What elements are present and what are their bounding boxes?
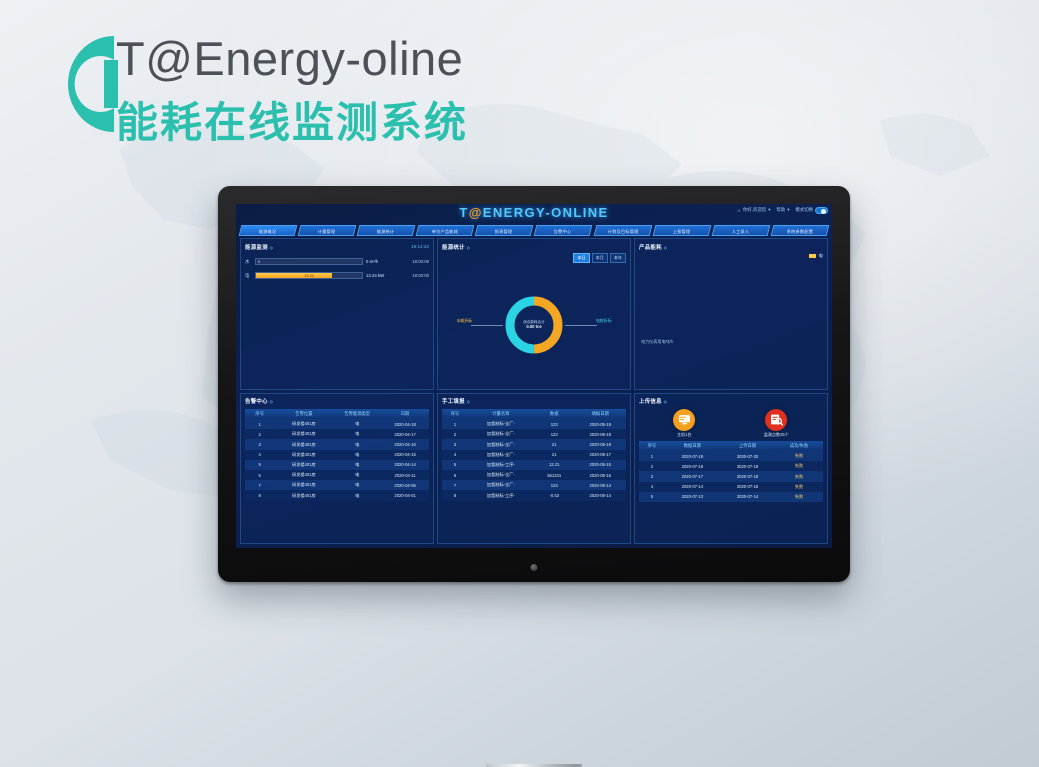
energy-bar-track: 0 bbox=[255, 258, 363, 265]
panel-title: 能源统计◇ bbox=[442, 243, 470, 251]
table-cell: 研发楼401房 bbox=[274, 419, 333, 429]
table-cell: 研发楼401房 bbox=[274, 450, 333, 460]
panel-title: 告警中心◇ bbox=[245, 397, 273, 405]
upload-stat-label: 主机1台 bbox=[673, 432, 695, 438]
app-title-suffix: ENERGY-ONLINE bbox=[483, 205, 609, 220]
app-title-prefix: T bbox=[459, 205, 468, 220]
table-cell: 7 bbox=[442, 480, 468, 490]
table-cell: 电 bbox=[333, 419, 381, 429]
clock-label: 18:14:23 bbox=[411, 244, 429, 249]
table-cell: 561241 bbox=[534, 470, 574, 480]
upload-table: 序号数据日期上传日期成功/失败 12020-07-192020-07-20失败2… bbox=[639, 441, 823, 503]
monitor-bezel: T@ENERGY-ONLINE ☺ 你好,欢迎您 ▾ 帮助 ▾ 模式切换 bbox=[218, 186, 850, 582]
table-cell: 加氢制标-全厂- bbox=[468, 419, 534, 429]
panel-energy-stats: 能源统计◇ 本日本月本年 水耗折标 电耗折标 综合能耗合计 0.00 tce bbox=[437, 238, 631, 390]
donut-center-label: 综合能耗合计 0.00 tce bbox=[503, 294, 565, 356]
table-body: 1研发楼401房电2020-04-182研发楼401房电2020-04-173研… bbox=[245, 419, 429, 501]
table-cell: 电 bbox=[333, 490, 381, 500]
table-cell: 2020-04-05 bbox=[381, 480, 429, 490]
column-header: 告警能源类型 bbox=[333, 409, 381, 420]
brand-lockup: T@Energy-oline 能耗在线监测系统 bbox=[52, 22, 612, 162]
table-row[interactable]: 2加氢制标-全厂-1232020-08-18 bbox=[442, 429, 626, 439]
table-row[interactable]: 7研发楼401房电2020-04-05 bbox=[245, 480, 429, 490]
table-cell: 4 bbox=[442, 450, 468, 460]
panel-title-text: 产品能耗 bbox=[639, 245, 662, 251]
nav-item-label: 能源统计 bbox=[377, 226, 395, 236]
table-cell: 2020-08-17 bbox=[574, 450, 626, 460]
table-cell: 加氢制标-工序- bbox=[468, 490, 534, 500]
table-row[interactable]: 12020-07-192020-07-20失败 bbox=[639, 451, 823, 461]
panel-title: 产品能耗◇ bbox=[639, 243, 667, 251]
table-cell: 21 bbox=[534, 439, 574, 449]
table-cell: 2020-07-20 bbox=[720, 451, 775, 461]
table-cell: 2020-07-19 bbox=[665, 451, 720, 461]
upload-stat-label: 监测点数25个 bbox=[764, 432, 789, 438]
mode-switch-label: 模式切换 bbox=[795, 207, 813, 213]
at-icon: @ bbox=[469, 205, 483, 220]
help-menu[interactable]: 帮助 ▾ bbox=[776, 207, 789, 213]
column-header: 上传日期 bbox=[720, 441, 775, 452]
table-cell: 2020-08-15 bbox=[574, 460, 626, 470]
table-cell: 1 bbox=[442, 419, 468, 429]
chevron-down-icon: ▾ bbox=[787, 207, 789, 213]
column-header: 成功/失败 bbox=[775, 441, 823, 452]
table-cell: 2020-07-15 bbox=[720, 482, 775, 492]
energy-row-time: 18:00:00 bbox=[403, 259, 429, 264]
column-header: 计量名称 bbox=[468, 409, 534, 420]
report-search-icon[interactable] bbox=[765, 409, 787, 431]
table-row[interactable]: 3研发楼401房电2020-04-16 bbox=[245, 439, 429, 449]
toggle-icon[interactable] bbox=[815, 207, 828, 214]
table-cell: 加氢制标-全厂- bbox=[468, 480, 534, 490]
table-row[interactable]: 32020-07-172020-07-18失败 bbox=[639, 471, 823, 481]
brand-title-en: T@Energy-oline bbox=[116, 22, 468, 96]
period-btn[interactable]: 本日 bbox=[573, 253, 589, 263]
expand-icon[interactable]: ◇ bbox=[270, 245, 273, 250]
period-toggle-group: 本日本月本年 bbox=[442, 253, 626, 263]
table-cell: 4 bbox=[245, 450, 274, 460]
table-cell: 2020-04-14 bbox=[381, 460, 429, 470]
legend-swatch-icon bbox=[809, 254, 816, 258]
panel-header: 产品能耗◇ bbox=[639, 242, 823, 251]
donut-center-value: 0.00 tce bbox=[526, 324, 541, 329]
energy-row-label: 电 bbox=[245, 273, 252, 279]
energy-bar-track: 13.24 bbox=[255, 272, 363, 279]
table-cell: 失败 bbox=[775, 492, 823, 502]
topbar-right: ☺ 你好,欢迎您 ▾ 帮助 ▾ 模式切换 bbox=[737, 207, 828, 214]
panel-upload-info: 上传信息◇ 主机1台监测点数25个 序号数据日期上传日期成功/失败 12020-… bbox=[634, 393, 828, 545]
table-row[interactable]: 5研发楼401房电2020-04-14 bbox=[245, 460, 429, 470]
table-cell: 5 bbox=[245, 460, 274, 470]
table-row[interactable]: 5加氢制标-工序-12.212020-08-15 bbox=[442, 460, 626, 470]
table-row[interactable]: 4研发楼401房电2020-04-15 bbox=[245, 450, 429, 460]
table-cell: 123 bbox=[534, 429, 574, 439]
user-icon: ☺ bbox=[737, 208, 741, 213]
nav-item-4[interactable]: 报表管理 bbox=[475, 225, 534, 236]
table-cell: 加氢制标-全厂- bbox=[468, 429, 534, 439]
panel-header: 手工填报◇ bbox=[442, 397, 626, 406]
table-row[interactable]: 7加氢制标-全厂-1232020-08-14 bbox=[442, 480, 626, 490]
nav-item-label: 计划及目标管理 bbox=[607, 226, 638, 236]
table-cell: 研发楼401房 bbox=[274, 490, 333, 500]
chevron-down-icon: ▾ bbox=[768, 207, 770, 213]
monitor: T@ENERGY-ONLINE ☺ 你好,欢迎您 ▾ 帮助 ▾ 模式切换 bbox=[218, 186, 850, 582]
expand-icon[interactable]: ◇ bbox=[664, 399, 667, 404]
table-cell: 研发楼401房 bbox=[274, 470, 333, 480]
nav-item-1[interactable]: 计量管理 bbox=[298, 225, 357, 236]
table-row[interactable]: 42020-07-142020-07-15失败 bbox=[639, 482, 823, 492]
panel-header: 能源统计◇ bbox=[442, 242, 626, 251]
column-header: 序号 bbox=[245, 409, 274, 420]
table-cell: 2 bbox=[639, 461, 665, 471]
upload-stat: 监测点数25个 bbox=[764, 409, 789, 438]
table-cell: 加氢制标-全厂- bbox=[468, 439, 534, 449]
nav-item-3[interactable]: 单位产品能耗 bbox=[416, 225, 475, 236]
panel-header: 告警中心◇ bbox=[245, 397, 429, 406]
panel-energy-monitor: 能源监测◇ 18:14:23 水00 m³/h18:00:00电13.2413.… bbox=[240, 238, 434, 390]
table-cell: 2020-07-14 bbox=[720, 492, 775, 502]
table-cell: 1 bbox=[245, 419, 274, 429]
expand-icon[interactable]: ◇ bbox=[270, 399, 273, 404]
table-cell: 加氢制标-工序- bbox=[468, 460, 534, 470]
table-cell: 2 bbox=[442, 429, 468, 439]
column-header: 序号 bbox=[442, 409, 468, 420]
table-cell: 2020-08-18 bbox=[574, 439, 626, 449]
energy-bar-value: 13.24 bbox=[256, 273, 362, 278]
table-row[interactable]: 8加氢制标-工序--0.532020-08-14 bbox=[442, 490, 626, 500]
panel-manual-entry: 手工填报◇ 序号计量名称数据填报日期 1加氢制标-全厂-1232020-08-1… bbox=[437, 393, 631, 545]
table-cell: 4 bbox=[639, 482, 665, 492]
nav-item-9[interactable]: 系统参数配置 bbox=[770, 225, 829, 236]
nav-item-label: 单位产品能耗 bbox=[432, 226, 458, 236]
table-cell: 2020-08-14 bbox=[574, 490, 626, 500]
table-cell: 2020-07-13 bbox=[665, 492, 720, 502]
table-cell: 3 bbox=[639, 471, 665, 481]
panel-title: 手工填报◇ bbox=[442, 397, 470, 405]
user-menu[interactable]: ☺ 你好,欢迎您 ▾ bbox=[737, 207, 771, 213]
energy-row: 电13.2413.24 kW18:00:00 bbox=[245, 272, 429, 279]
table-cell: 6 bbox=[245, 470, 274, 480]
table-cell: 电 bbox=[333, 429, 381, 439]
column-header: 数据 bbox=[534, 409, 574, 420]
expand-icon[interactable]: ◇ bbox=[664, 245, 667, 250]
nav-item-8[interactable]: 人工录入 bbox=[711, 225, 770, 236]
table-cell: 2020-07-19 bbox=[720, 461, 775, 471]
nav-item-label: 人工录入 bbox=[732, 226, 750, 236]
table-cell: 123 bbox=[534, 419, 574, 429]
energy-row: 水00 m³/h18:00:00 bbox=[245, 258, 429, 265]
table-header-row: 序号数据日期上传日期成功/失败 bbox=[639, 441, 823, 452]
dashboard-screen: T@ENERGY-ONLINE ☺ 你好,欢迎您 ▾ 帮助 ▾ 模式切换 bbox=[236, 204, 832, 548]
c-logo-icon bbox=[52, 30, 124, 138]
table-cell: 电 bbox=[333, 460, 381, 470]
nav-item-label: 能源概况 bbox=[259, 226, 277, 236]
table-cell: 2020-04-01 bbox=[381, 490, 429, 500]
panel-title: 能源监测◇ bbox=[245, 243, 273, 251]
table-cell: 研发楼401房 bbox=[274, 460, 333, 470]
panel-product-energy: 产品能耗◇ 电 电力仪表用电吨/h bbox=[634, 238, 828, 390]
energy-row-list: 水00 m³/h18:00:00电13.2413.24 kW18:00:00 bbox=[245, 258, 429, 279]
table-header-row: 序号告警位置告警能源类型日期 bbox=[245, 409, 429, 420]
table-body: 1加氢制标-全厂-1232020-08-192加氢制标-全厂-1232020-0… bbox=[442, 419, 626, 501]
slice-label-left: 水耗折标 bbox=[456, 318, 472, 324]
upload-stat: 主机1台 bbox=[673, 409, 695, 438]
expand-icon[interactable]: ◇ bbox=[467, 245, 470, 250]
nav-item-label: 系统参数配置 bbox=[786, 226, 812, 236]
app-title: T@ENERGY-ONLINE bbox=[459, 205, 608, 220]
panel-title: 上传信息◇ bbox=[639, 397, 667, 405]
panel-title-text: 手工填报 bbox=[442, 399, 465, 405]
legend-label: 电 bbox=[819, 253, 823, 259]
mode-switch[interactable]: 模式切换 bbox=[795, 207, 828, 214]
table-cell: 21 bbox=[534, 450, 574, 460]
panel-title-text: 上传信息 bbox=[639, 399, 662, 405]
table-cell: 2020-08-19 bbox=[574, 419, 626, 429]
slice-label-right: 电耗折标 bbox=[596, 318, 612, 324]
table-row[interactable]: 6研发楼401房电2020-04-11 bbox=[245, 470, 429, 480]
table-cell: 2020-04-18 bbox=[381, 419, 429, 429]
nav-item-label: 上报管理 bbox=[673, 226, 691, 236]
column-header: 序号 bbox=[639, 441, 665, 452]
table-cell: 电 bbox=[333, 450, 381, 460]
table-row[interactable]: 2研发楼401房电2020-04-17 bbox=[245, 429, 429, 439]
energy-row-label: 水 bbox=[245, 259, 252, 265]
table-cell: 电 bbox=[333, 439, 381, 449]
table-row[interactable]: 22020-07-182020-07-19失败 bbox=[639, 461, 823, 471]
table-cell: 6 bbox=[442, 470, 468, 480]
panel-header: 上传信息◇ bbox=[639, 397, 823, 406]
donut-chart: 综合能耗合计 0.00 tce bbox=[503, 294, 565, 356]
table-row[interactable]: 4加氢制标-全厂-212020-08-17 bbox=[442, 450, 626, 460]
chart-legend: 电 bbox=[639, 253, 823, 259]
table-cell: 失败 bbox=[775, 451, 823, 461]
help-label: 帮助 bbox=[776, 207, 785, 213]
column-header: 日期 bbox=[381, 409, 429, 420]
table-cell: 2020-07-18 bbox=[665, 461, 720, 471]
table-cell: 2020-08-15 bbox=[574, 470, 626, 480]
upload-stat-list: 主机1台监测点数25个 bbox=[639, 409, 823, 438]
table-cell: 5 bbox=[442, 460, 468, 470]
period-btn[interactable]: 本年 bbox=[610, 253, 626, 263]
table-row[interactable]: 52020-07-132020-07-14失败 bbox=[639, 492, 823, 502]
table-cell: 2020-08-18 bbox=[574, 429, 626, 439]
nav-item-7[interactable]: 上报管理 bbox=[652, 225, 711, 236]
panel-grid: 能源监测◇ 18:14:23 水00 m³/h18:00:00电13.2413.… bbox=[236, 238, 832, 548]
table-cell: 加氢制标-全厂- bbox=[468, 450, 534, 460]
nav-item-0[interactable]: 能源概况 bbox=[239, 225, 298, 236]
table-cell: 3 bbox=[245, 439, 274, 449]
table-cell: 12.21 bbox=[534, 460, 574, 470]
nav-item-6[interactable]: 计划及目标管理 bbox=[593, 225, 652, 236]
table-cell: 123 bbox=[534, 480, 574, 490]
table-cell: 研发楼401房 bbox=[274, 429, 333, 439]
panel-header: 能源监测◇ 18:14:23 bbox=[245, 242, 429, 251]
table-cell: 2020-07-17 bbox=[665, 471, 720, 481]
table-cell: 2 bbox=[245, 429, 274, 439]
table-cell: 2020-07-14 bbox=[665, 482, 720, 492]
table-cell: 2020-07-18 bbox=[720, 471, 775, 481]
server-icon[interactable] bbox=[673, 409, 695, 431]
table-cell: 2020-04-17 bbox=[381, 429, 429, 439]
table-cell: 失败 bbox=[775, 461, 823, 471]
table-row[interactable]: 8研发楼401房电2020-04-01 bbox=[245, 490, 429, 500]
nav-item-label: 报表管理 bbox=[495, 226, 513, 236]
nav-item-2[interactable]: 能源统计 bbox=[357, 225, 416, 236]
screen-topbar: T@ENERGY-ONLINE ☺ 你好,欢迎您 ▾ 帮助 ▾ 模式切换 bbox=[236, 204, 832, 222]
energy-row-value: 13.24 kW bbox=[366, 273, 400, 278]
table-row[interactable]: 6加氢制标-全厂-5612412020-08-15 bbox=[442, 470, 626, 480]
panel-title-text: 能源统计 bbox=[442, 245, 465, 251]
table-cell: 1 bbox=[639, 451, 665, 461]
table-cell: -0.53 bbox=[534, 490, 574, 500]
column-header: 填报日期 bbox=[574, 409, 626, 420]
donut-chart-wrap: 水耗折标 电耗折标 综合能耗合计 0.00 tce bbox=[442, 263, 626, 387]
table-cell: 2020-04-15 bbox=[381, 450, 429, 460]
table-cell: 2020-04-16 bbox=[381, 439, 429, 449]
table-cell: 失败 bbox=[775, 482, 823, 492]
table-cell: 8 bbox=[442, 490, 468, 500]
panel-alarm-center: 告警中心◇ 序号告警位置告警能源类型日期 1研发楼401房电2020-04-18… bbox=[240, 393, 434, 545]
table-cell: 研发楼401房 bbox=[274, 439, 333, 449]
nav-item-label: 计量管理 bbox=[318, 226, 336, 236]
column-header: 告警位置 bbox=[274, 409, 333, 420]
table-cell: 2020-08-14 bbox=[574, 480, 626, 490]
nav-item-label: 告警中心 bbox=[554, 226, 572, 236]
table-cell: 2020-04-11 bbox=[381, 470, 429, 480]
table-cell: 电 bbox=[333, 470, 381, 480]
table-cell: 5 bbox=[639, 492, 665, 502]
table-cell: 失败 bbox=[775, 471, 823, 481]
main-nav: 能源概况计量管理能源统计单位产品能耗报表管理告警中心计划及目标管理上报管理人工录… bbox=[236, 222, 832, 238]
brand-title-cn: 能耗在线监测系统 bbox=[116, 96, 468, 150]
table-cell: 加氢制标-全厂- bbox=[468, 470, 534, 480]
table-body: 12020-07-192020-07-20失败22020-07-182020-0… bbox=[639, 451, 823, 502]
table-row[interactable]: 1研发楼401房电2020-04-18 bbox=[245, 419, 429, 429]
axis-note: 电力仪表用电吨/h bbox=[641, 339, 673, 345]
energy-row-time: 18:00:00 bbox=[403, 273, 429, 278]
user-label: 你好,欢迎您 bbox=[743, 207, 766, 213]
manual-entry-table: 序号计量名称数据填报日期 1加氢制标-全厂-1232020-08-192加氢制标… bbox=[442, 409, 626, 501]
alarm-table: 序号告警位置告警能源类型日期 1研发楼401房电2020-04-182研发楼40… bbox=[245, 409, 429, 501]
table-cell: 电 bbox=[333, 480, 381, 490]
energy-bar-value: 0 bbox=[256, 259, 362, 264]
table-header-row: 序号计量名称数据填报日期 bbox=[442, 409, 626, 420]
table-row[interactable]: 1加氢制标-全厂-1232020-08-19 bbox=[442, 419, 626, 429]
leader-line-left bbox=[471, 325, 503, 326]
leader-line-right bbox=[565, 325, 597, 326]
panel-title-text: 能源监测 bbox=[245, 245, 268, 251]
table-cell: 8 bbox=[245, 490, 274, 500]
nav-item-5[interactable]: 告警中心 bbox=[534, 225, 593, 236]
period-btn[interactable]: 本月 bbox=[592, 253, 608, 263]
panel-title-text: 告警中心 bbox=[245, 399, 268, 405]
table-row[interactable]: 3加氢制标-全厂-212020-08-18 bbox=[442, 439, 626, 449]
table-cell: 7 bbox=[245, 480, 274, 490]
energy-row-value: 0 m³/h bbox=[366, 259, 400, 264]
expand-icon[interactable]: ◇ bbox=[467, 399, 470, 404]
table-cell: 研发楼401房 bbox=[274, 480, 333, 490]
column-header: 数据日期 bbox=[665, 441, 720, 452]
table-cell: 3 bbox=[442, 439, 468, 449]
